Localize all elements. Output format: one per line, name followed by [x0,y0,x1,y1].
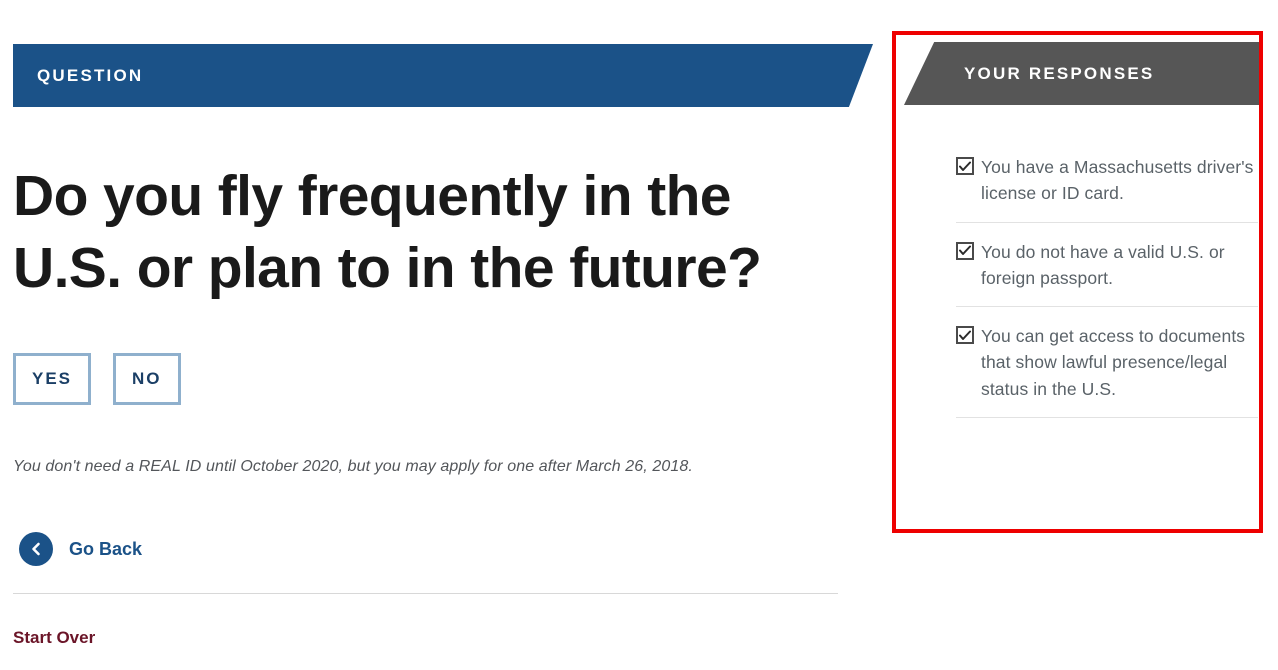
question-banner: QUESTION [13,44,873,107]
list-item: You have a Massachusetts driver's licens… [956,142,1258,223]
go-back-link[interactable]: Go Back [19,532,142,566]
yes-button[interactable]: YES [13,353,91,405]
bottom-divider [13,593,838,594]
list-item-label: You have a Massachusetts driver's licens… [981,154,1258,207]
start-over-link[interactable]: Start Over [13,628,95,648]
question-banner-label: QUESTION [37,66,143,86]
checkbox-checked-icon[interactable] [956,157,974,175]
checkbox-checked-icon[interactable] [956,326,974,344]
list-item: You do not have a valid U.S. or foreign … [956,223,1258,308]
question-column: QUESTION Do you fly frequently in the U.… [0,0,880,670]
list-item-label: You do not have a valid U.S. or foreign … [981,239,1258,292]
list-item: You can get access to documents that sho… [956,307,1258,418]
responses-banner: YOUR RESPONSES [904,42,1259,105]
go-back-label: Go Back [69,539,142,560]
question-heading: Do you fly frequently in the U.S. or pla… [13,160,833,305]
chevron-left-icon [19,532,53,566]
responses-panel-highlight: YOUR RESPONSES You have a Massachusetts … [892,31,1263,533]
answer-button-group: YES NO [13,353,181,405]
checkbox-checked-icon[interactable] [956,242,974,260]
list-item-label: You can get access to documents that sho… [981,323,1258,402]
no-button[interactable]: NO [113,353,181,405]
helper-note: You don't need a REAL ID until October 2… [13,458,693,476]
responses-banner-label: YOUR RESPONSES [964,64,1154,84]
responses-list: You have a Massachusetts driver's licens… [956,142,1258,418]
